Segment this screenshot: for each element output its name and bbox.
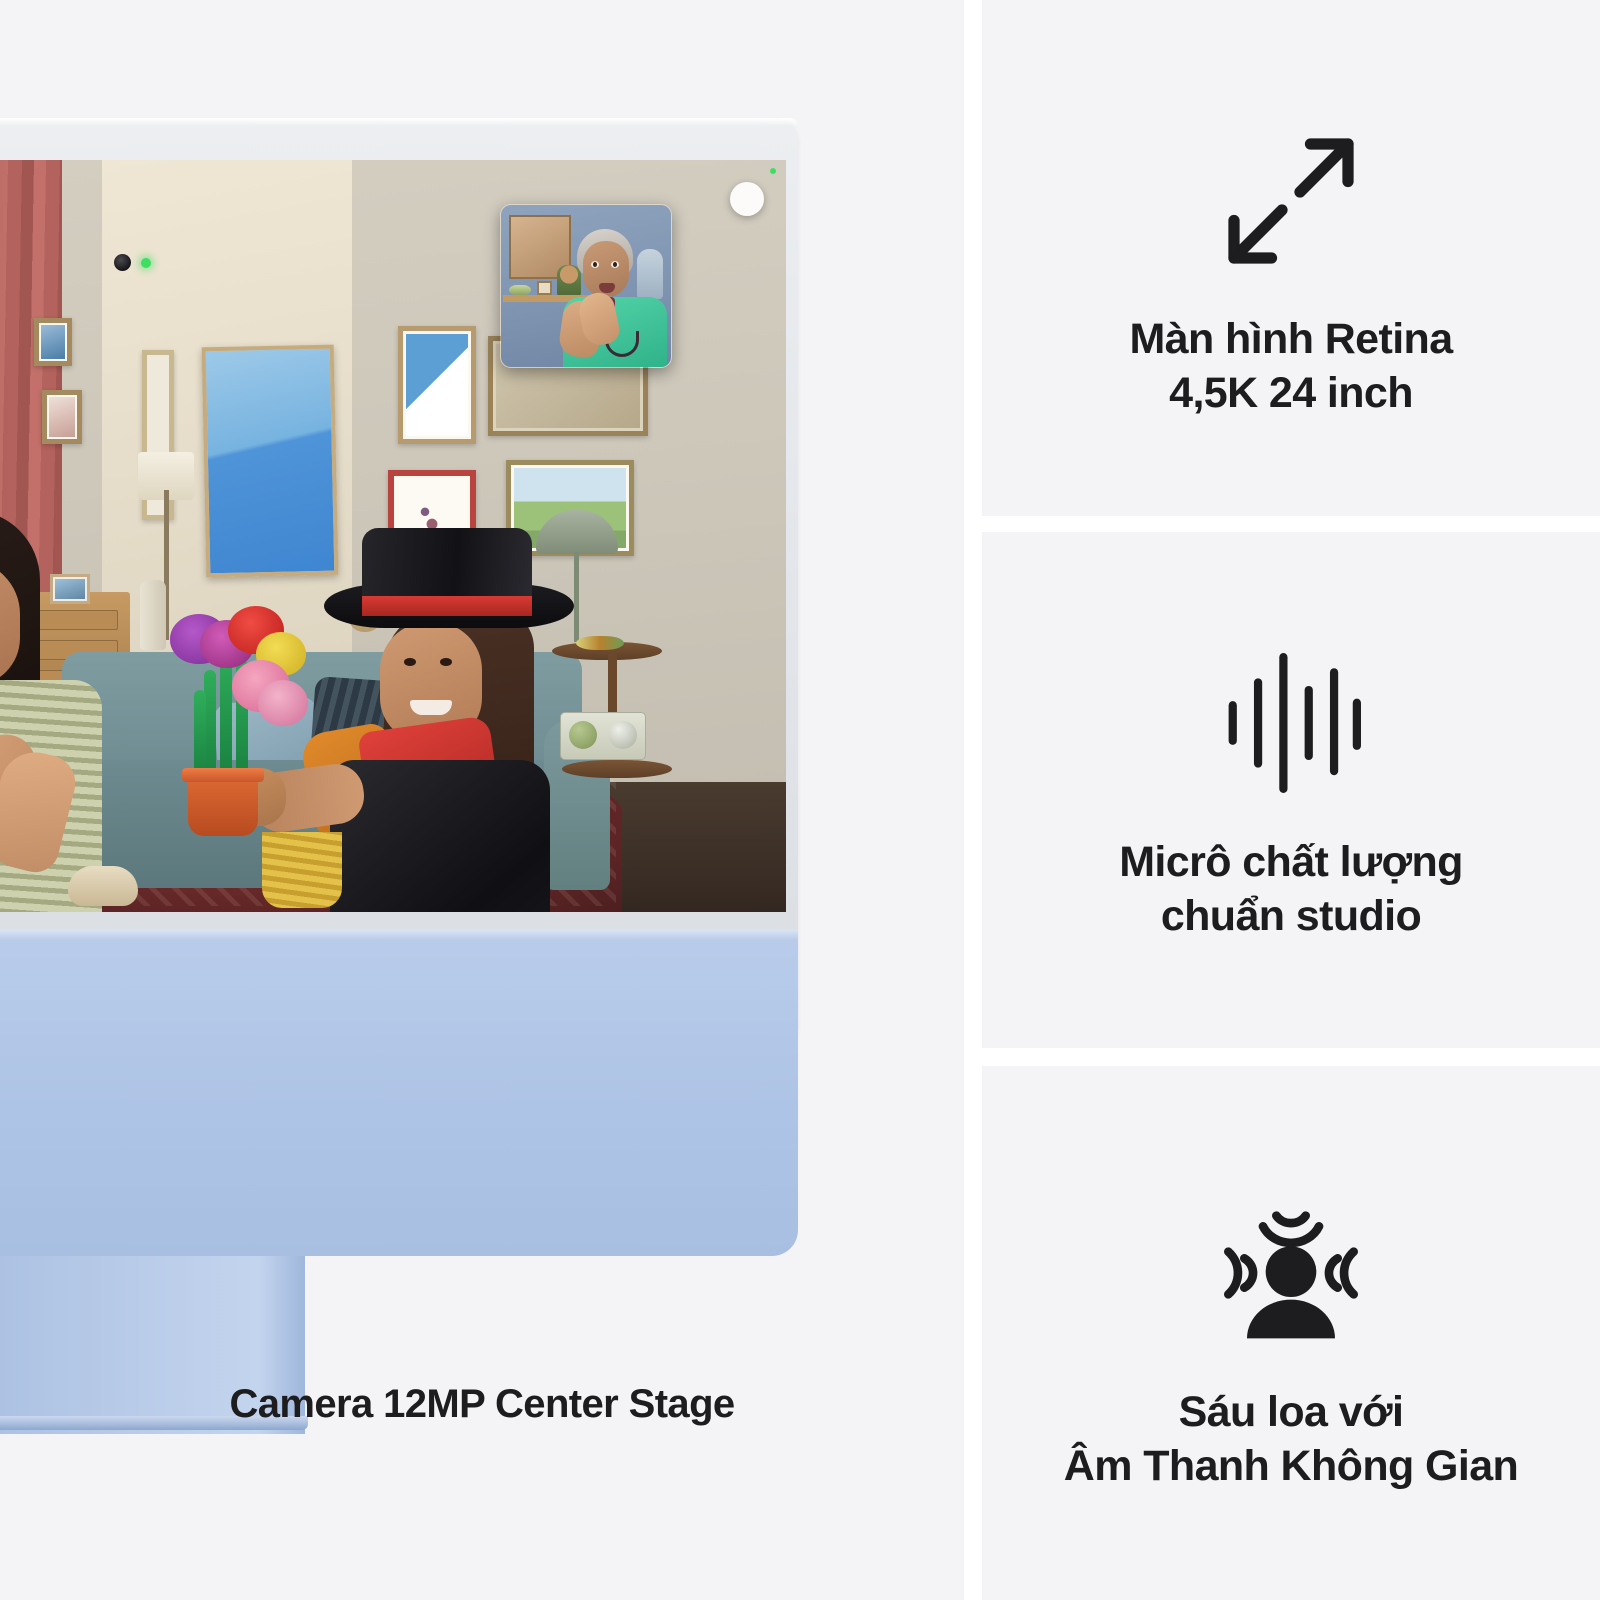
wall-frame-small-pink — [42, 390, 82, 444]
shutter-button[interactable] — [730, 182, 764, 216]
desk-photo-frame — [50, 574, 90, 604]
expand-arrows-icon — [1216, 126, 1366, 276]
imac-display-body — [0, 118, 798, 1048]
page-root: Camera 12MP Center Stage Màn hình Retina… — [0, 0, 1600, 1600]
tall-vase — [140, 580, 166, 650]
camera-dot — [114, 254, 131, 271]
blue-canvas-artwork — [202, 345, 339, 578]
pip-plant — [557, 265, 581, 297]
pip-mini-frame — [537, 281, 552, 295]
imac-device — [0, 118, 798, 1268]
side-table-lower-shelf — [562, 760, 672, 778]
audio-waveform-icon — [1212, 647, 1370, 799]
flower-pot — [188, 774, 258, 836]
feature-card-spatial-audio[interactable]: Sáu loa với Âm Thanh Không Gian — [982, 1066, 1600, 1600]
feature-label-spatial-audio: Sáu loa với Âm Thanh Không Gian — [1064, 1385, 1518, 1493]
feature-card-retina-display[interactable]: Màn hình Retina 4,5K 24 inch — [982, 0, 1600, 516]
camera-caption: Camera 12MP Center Stage — [0, 1382, 964, 1427]
pip-person-eye-left — [591, 261, 599, 268]
flower-pink-secondary — [258, 680, 308, 726]
pip-person-eye-right — [611, 261, 619, 268]
girl-smile — [410, 700, 452, 715]
camera-feature-panel: Camera 12MP Center Stage — [0, 0, 964, 1600]
dome-lamp-pole — [574, 552, 579, 642]
girl-black-cape — [330, 760, 550, 912]
spatial-audio-person-icon — [1211, 1189, 1371, 1349]
top-hat-red-band — [362, 596, 532, 616]
camera-status-led — [141, 258, 151, 268]
feature-cards: Màn hình Retina 4,5K 24 inch Micrô chất … — [982, 0, 1600, 1600]
facetime-pip-tile[interactable] — [500, 204, 672, 368]
wall-frame-blue-abstract — [398, 326, 476, 444]
wall-frame-small-blue — [34, 318, 72, 366]
girl-eye-right — [440, 658, 452, 666]
screen-recording-led — [770, 168, 776, 174]
feature-label-studio-mic: Micrô chất lượng chuẩn studio — [1119, 835, 1463, 943]
pip-bowl — [509, 285, 531, 295]
imac-screen — [0, 160, 786, 912]
pip-lamp-shade — [637, 249, 663, 299]
feature-label-retina-display: Màn hình Retina 4,5K 24 inch — [1129, 312, 1452, 420]
facetime-scene — [0, 160, 786, 912]
woman-shoe — [68, 866, 138, 906]
imac-chin — [0, 930, 798, 1256]
girl-eye-left — [404, 658, 416, 666]
vintage-radio — [560, 712, 646, 760]
yellow-tassel-blanket — [262, 832, 342, 908]
bezel-highlight — [0, 118, 798, 126]
fruit-bowl — [576, 636, 624, 650]
feature-card-studio-mic[interactable]: Micrô chất lượng chuẩn studio — [982, 532, 1600, 1048]
flower-pot-rim — [182, 768, 264, 782]
